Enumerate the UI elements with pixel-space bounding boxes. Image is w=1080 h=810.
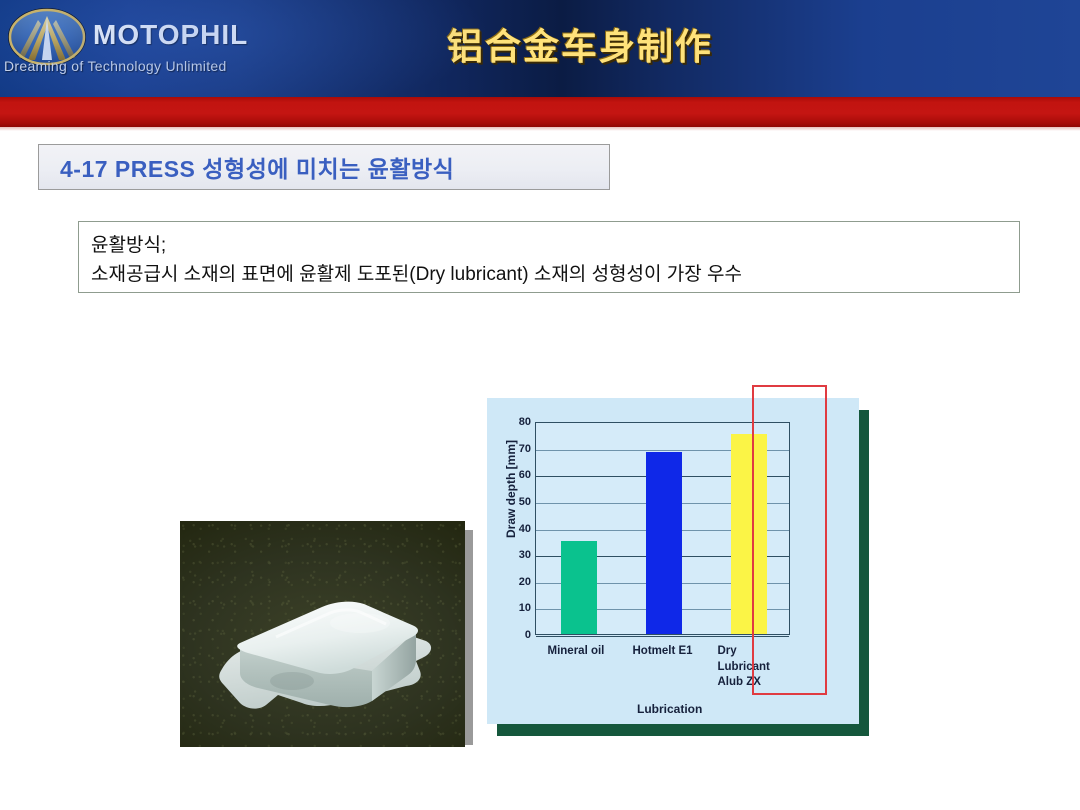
deep-drawn-aluminium-box-photo xyxy=(180,521,465,747)
section-heading-box: 4-17 PRESS 성형성에 미치는 윤활방식 xyxy=(38,144,610,190)
y-tick-label-10: 10 xyxy=(491,602,531,614)
photo-part-illustration xyxy=(180,521,465,747)
brand-name: MOTOPHIL xyxy=(93,19,248,51)
y-tick-label-50: 50 xyxy=(491,496,531,508)
highlight-box-dry-lubricant xyxy=(752,385,827,695)
body-line-2: 소재공급시 소재의 표면에 윤활제 도포된(Dry lubricant) 소재의… xyxy=(91,260,1007,289)
y-tick-label-60: 60 xyxy=(491,469,531,481)
header-banner: MOTOPHIL Dreaming of Technology Unlimite… xyxy=(0,0,1080,97)
y-tick-label-30: 30 xyxy=(491,549,531,561)
section-heading-text: 4-17 PRESS 성형성에 미치는 윤활방식 xyxy=(60,150,454,184)
y-tick-label-70: 70 xyxy=(491,443,531,455)
bar-chart: Draw depth [mm] 80706050403020100 Minera… xyxy=(487,398,859,724)
x-axis-title: Lubrication xyxy=(637,702,702,716)
category-label-1: Hotmelt E1 xyxy=(633,644,693,660)
y-tick-label-20: 20 xyxy=(491,576,531,588)
y-tick-label-80: 80 xyxy=(491,416,531,428)
header-red-stripe xyxy=(0,97,1080,127)
body-textbox: 윤활방식; 소재공급시 소재의 표면에 윤활제 도포된(Dry lubrican… xyxy=(78,221,1020,293)
body-line-1: 윤활방식; xyxy=(91,231,1007,260)
y-tick-label-40: 40 xyxy=(491,523,531,535)
y-tick-label-0: 0 xyxy=(491,629,531,641)
category-label-0: Mineral oil xyxy=(548,644,605,660)
slide-title: 铝合金车身制作 xyxy=(390,18,770,70)
bar-hotmelt-e1 xyxy=(646,452,682,634)
header-stripe-highlight xyxy=(0,127,1080,131)
y-axis-ticks: 80706050403020100 xyxy=(487,422,531,635)
brand-tagline: Dreaming of Technology Unlimited xyxy=(4,58,227,74)
bar-mineral-oil xyxy=(561,541,597,634)
